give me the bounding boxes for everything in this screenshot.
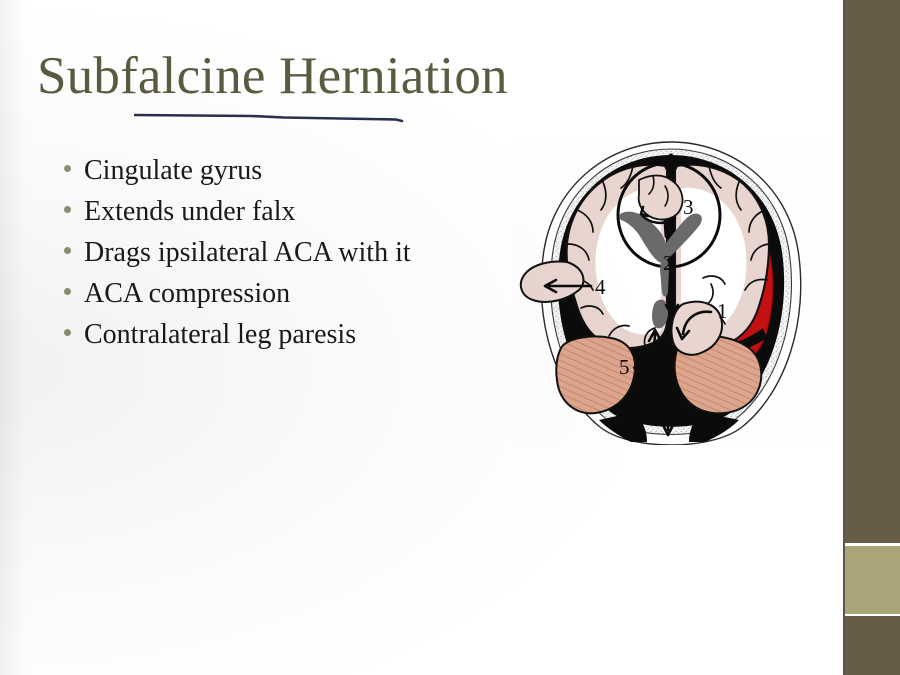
figure-label-2: 2 [663,251,674,275]
bullet-dot-icon [64,275,84,295]
figure-label-4: 4 [595,275,606,299]
list-item-label: ACA compression [84,275,534,313]
bullet-dot-icon [64,316,84,336]
bullet-dot-icon [64,193,84,213]
list-item: ACA compression [64,275,534,316]
sidebar-band-bottom [845,616,900,675]
list-item: Extends under falx [64,193,534,234]
sidebar-decoration [843,0,900,675]
bullet-dot-icon [64,234,84,254]
brain-herniation-figure: 3 2 4 1 5 6 [515,140,827,445]
bullet-list: Cingulate gyrus Extends under falx Drags… [64,152,534,357]
page-title: Subfalcine Herniation [37,45,508,107]
list-item-label: Extends under falx [84,193,534,231]
list-item-label: Drags ipsilateral ACA with it [84,234,534,272]
title-underline-rule [134,110,396,120]
figure-label-3: 3 [683,195,694,219]
sidebar-band-top [845,0,900,546]
figure-label-5: 5 [619,355,630,379]
figure-label-1: 1 [717,299,728,323]
bullet-dot-icon [64,152,84,172]
slide-canvas: Subfalcine Herniation Cingulate gyrus Ex… [0,0,900,675]
list-item-label: Contralateral leg paresis [84,316,534,354]
figure-label-6: 6 [661,365,672,389]
list-item-label: Cingulate gyrus [84,152,534,190]
list-item: Contralateral leg paresis [64,316,534,357]
list-item: Drags ipsilateral ACA with it [64,234,534,275]
list-item: Cingulate gyrus [64,152,534,193]
sidebar-band-accent [845,546,900,616]
